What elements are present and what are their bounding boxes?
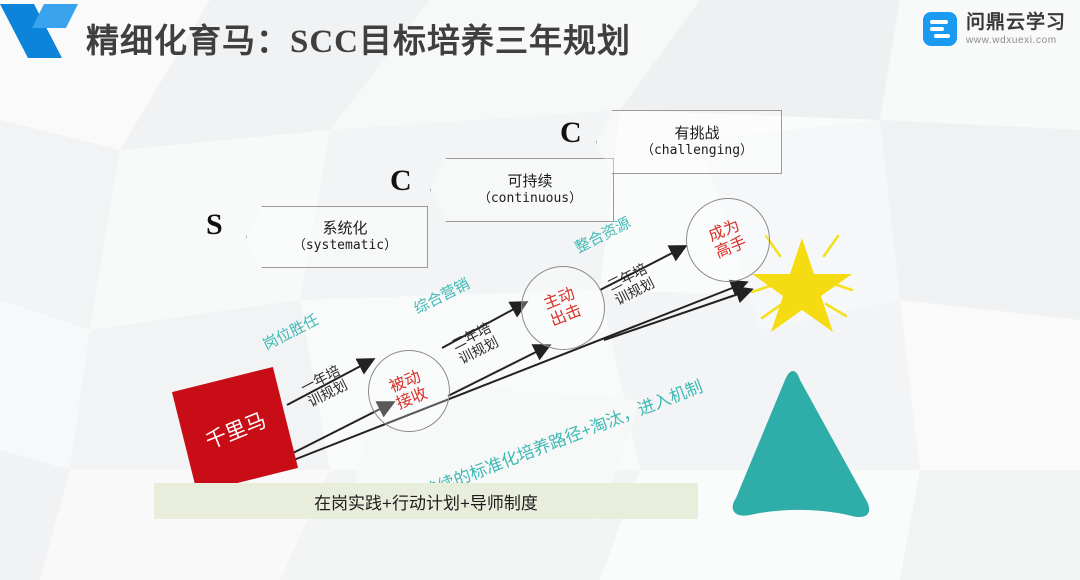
scc-letter-c1: C — [390, 164, 412, 198]
brand-logo: 问鼎云学习 www.wdxuexi.com — [923, 12, 1066, 46]
callout-systematic: 系统化 （systematic） — [246, 206, 428, 268]
start-node-label: 千里马 — [200, 404, 270, 455]
footer-text: 在岗实践+行动计划+导师制度 — [314, 489, 538, 514]
callout-systematic-cn: 系统化 — [322, 220, 367, 238]
callout-continuous: 可持续 （continuous） — [430, 158, 614, 222]
stacked-book-icon — [923, 12, 957, 46]
parallelogram-logo-icon — [0, 0, 92, 70]
stage-node-2-label: 主动出击 — [541, 285, 584, 331]
stage-node-3-label: 成为高手 — [706, 217, 749, 263]
callout-challenging: 有挑战 （challenging） — [596, 110, 782, 174]
callout-challenging-en: （challenging） — [641, 143, 753, 158]
footer-bar: 在岗实践+行动计划+导师制度 — [154, 483, 698, 519]
callout-systematic-en: （systematic） — [293, 238, 397, 253]
stage-node-1: 被动接收 — [368, 350, 450, 432]
stage-node-3: 成为高手 — [686, 198, 770, 282]
callout-continuous-en: （continuous） — [478, 191, 582, 206]
stage-node-1-label: 被动接收 — [387, 368, 430, 414]
callout-continuous-cn: 可持续 — [507, 173, 552, 191]
stage-node-2: 主动出击 — [521, 266, 605, 350]
brand-url: www.wdxuexi.com — [966, 36, 1066, 46]
brand-name: 问鼎云学习 — [966, 13, 1066, 32]
slide: 精细化育马：SCC目标培养三年规划 问鼎云学习 www.wdxuexi.com … — [0, 0, 1080, 580]
scc-letter-s: S — [206, 208, 223, 242]
scc-letter-c2: C — [560, 116, 582, 150]
page-title: 精细化育马：SCC目标培养三年规划 — [86, 14, 631, 62]
callout-challenging-cn: 有挑战 — [674, 125, 719, 143]
